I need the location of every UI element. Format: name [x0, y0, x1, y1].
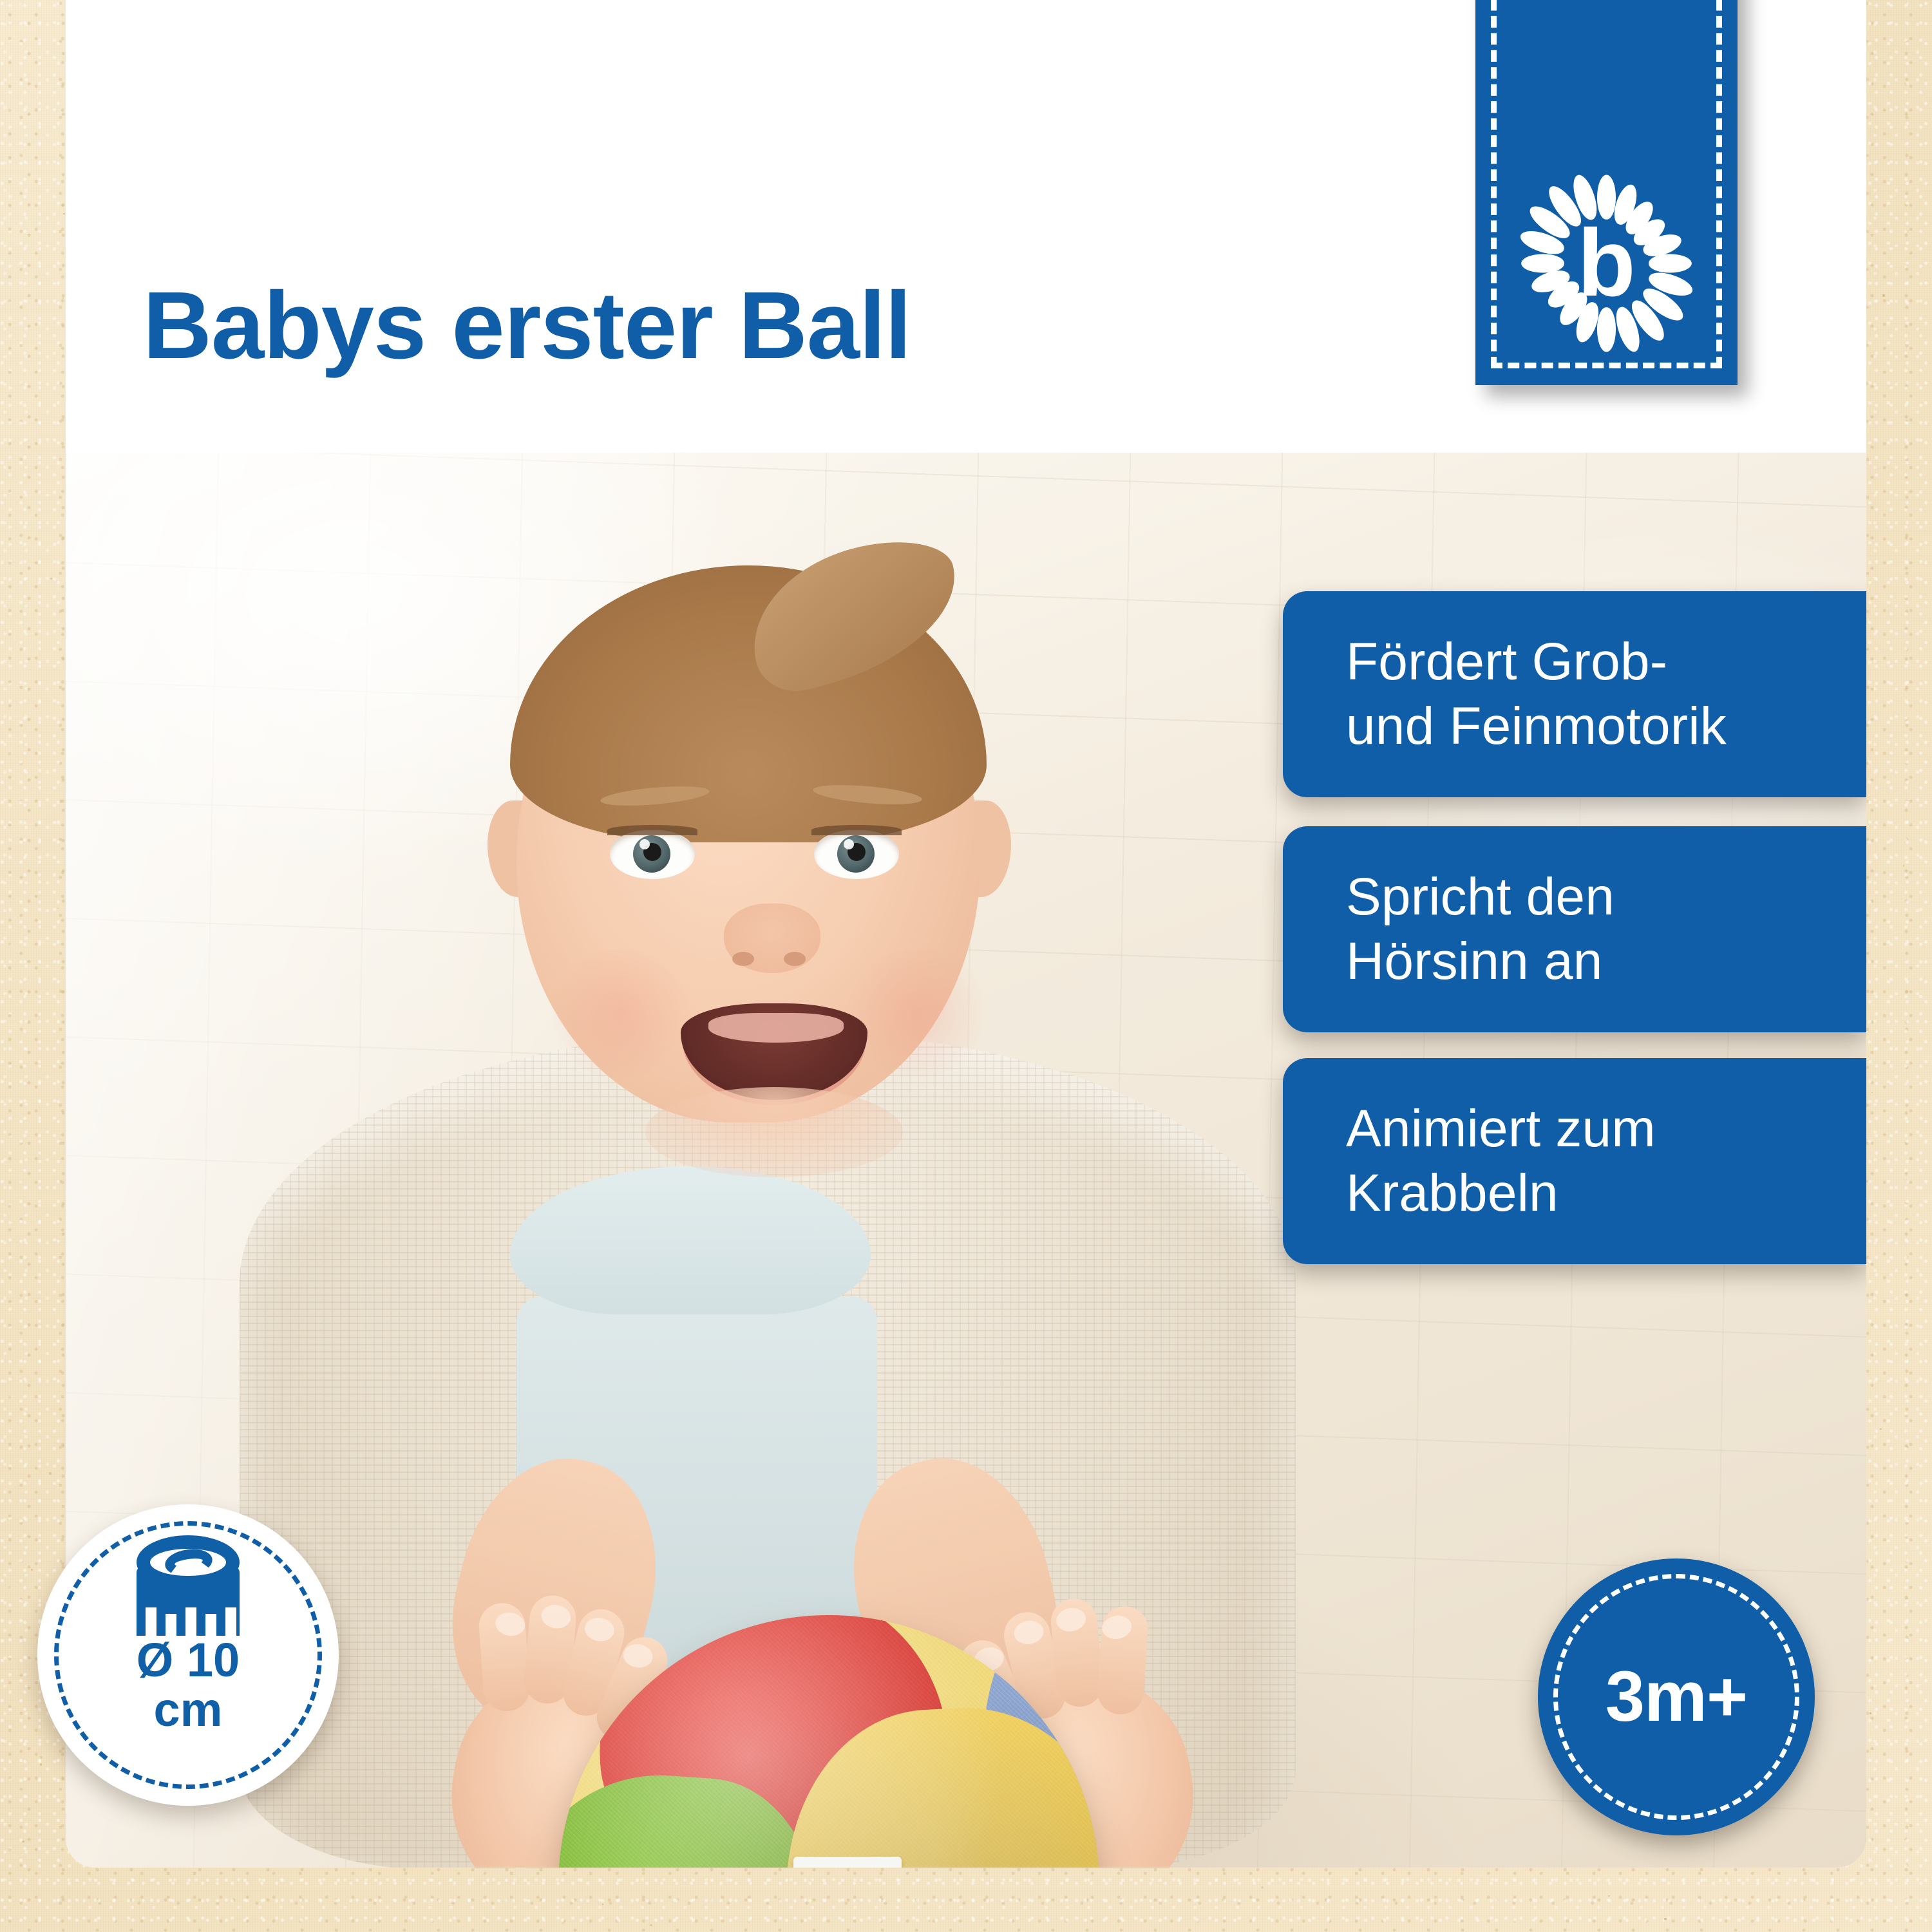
ball-brand-label: b — [793, 1857, 902, 1868]
page-title: Babys erster Ball — [143, 278, 911, 374]
age-badge[interactable]: 3m+ — [1538, 1558, 1815, 1835]
plush-ball: b — [558, 1615, 1099, 1868]
feature-badge-2-line2: Hörsinn an — [1346, 929, 1615, 994]
upper-gum — [708, 1013, 844, 1043]
tape-notch — [225, 1607, 236, 1636]
feature-badge-3[interactable]: Animiert zum Krabbeln — [1283, 1058, 1866, 1264]
measuring-tape-icon — [131, 1533, 245, 1636]
nostril-left — [732, 952, 754, 966]
feature-badge-2-line1: Spricht den — [1346, 865, 1615, 929]
paper-speck — [49, 1472, 52, 1475]
brand-logo-tag: b — [1475, 0, 1738, 385]
diameter-badge[interactable]: Ø 10 cm — [37, 1504, 339, 1806]
feature-badge-1-line1: Fördert Grob- — [1346, 630, 1727, 694]
logo-petal — [1521, 254, 1564, 273]
feature-badge-2-text: Spricht den Hörsinn an — [1346, 865, 1615, 994]
feature-badge-3-line2: Krabbeln — [1346, 1161, 1656, 1226]
feature-badge-1-text: Fördert Grob- und Feinmotorik — [1346, 630, 1727, 759]
paper-speck — [40, 1763, 42, 1765]
feature-badge-3-line1: Animiert zum — [1346, 1097, 1656, 1161]
paper-speck — [1882, 294, 1884, 296]
tape-notch — [185, 1607, 196, 1636]
feature-badge-3-text: Animiert zum Krabbeln — [1346, 1097, 1656, 1226]
paper-speck — [31, 1569, 33, 1571]
cheek-left — [544, 949, 698, 1077]
age-badge-dashed-border — [1553, 1574, 1799, 1820]
nostril-right — [784, 952, 806, 966]
paper-speck — [1261, 1886, 1264, 1889]
paper-speck — [3, 1192, 4, 1193]
tape-notch — [205, 1614, 216, 1636]
paper-speck — [62, 298, 64, 299]
eye-left — [610, 830, 695, 879]
paper-speck — [40, 1756, 43, 1759]
eye-glint-left — [639, 839, 650, 849]
tape-notch — [146, 1607, 156, 1636]
paper-speck — [1664, 1918, 1667, 1920]
tape-notch — [166, 1614, 176, 1636]
logo-petal — [1597, 307, 1616, 352]
cheek-right — [838, 949, 993, 1077]
feature-badge-1-line2: und Feinmotorik — [1346, 694, 1727, 759]
logo-petal — [1597, 175, 1616, 219]
paper-speck — [1880, 1428, 1881, 1430]
feature-badge-1[interactable]: Fördert Grob- und Feinmotorik — [1283, 591, 1866, 797]
eyelash-left — [607, 825, 697, 835]
paper-speck — [22, 1841, 24, 1843]
logo-petal — [1649, 254, 1692, 273]
paper-speck — [650, 1924, 652, 1927]
eyelash-right — [811, 825, 902, 835]
eye-glint-right — [844, 839, 854, 849]
paper-speck — [1291, 1895, 1291, 1895]
feature-badge-2[interactable]: Spricht den Hörsinn an — [1283, 826, 1866, 1032]
paper-speck — [50, 578, 52, 580]
paper-speck — [602, 1904, 603, 1905]
paper-speck — [57, 908, 59, 909]
b-sunflower-logo-icon: b — [1522, 179, 1691, 348]
eye-right — [814, 830, 899, 879]
chin — [645, 1087, 903, 1177]
paper-speck — [929, 1920, 931, 1922]
